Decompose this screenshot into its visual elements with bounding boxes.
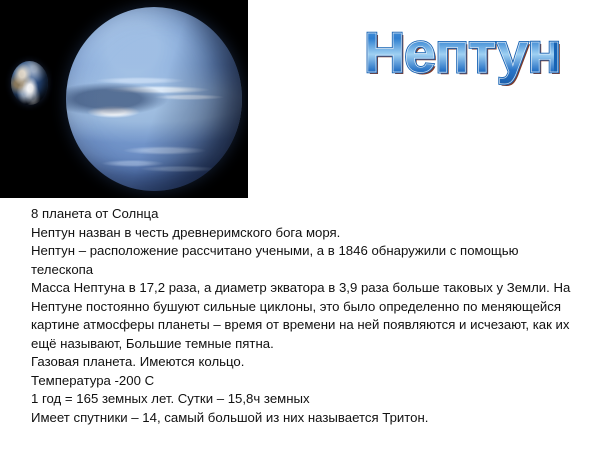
text-line-planet-order: 8 планета от Солнца [31,205,577,224]
title-gloss-layer: Нептун [364,20,554,86]
page-title: Нептун Нептун Нептун Нептун [364,20,554,86]
neptune-planet-image [66,7,242,191]
text-line-gas-planet-rings: Газовая планета. Имеются кольцо. [31,353,577,372]
text-line-moons: Имеет спутники – 14, самый большой из ни… [31,409,577,428]
description-text-block: 8 планета от Солнца Нептун назван в чест… [31,205,577,427]
planet-image-panel [0,0,248,198]
text-line-discovery: Нептун – расположение рассчитано учеными… [31,242,577,279]
neptune-terminator-shadow [66,7,242,191]
text-line-temperature: Температура -200 С [31,372,577,391]
text-line-name-origin: Нептун назван в честь древнеримского бог… [31,224,577,243]
slide-canvas: Нептун Нептун Нептун Нептун 8 планета от… [0,0,600,450]
text-line-year-and-day: 1 год = 165 земных лет. Сутки – 15,8ч зе… [31,390,577,409]
text-line-mass-and-storms: Масса Нептуна в 17,2 раза, а диаметр экв… [31,279,577,353]
earth-planet-image [11,61,48,105]
